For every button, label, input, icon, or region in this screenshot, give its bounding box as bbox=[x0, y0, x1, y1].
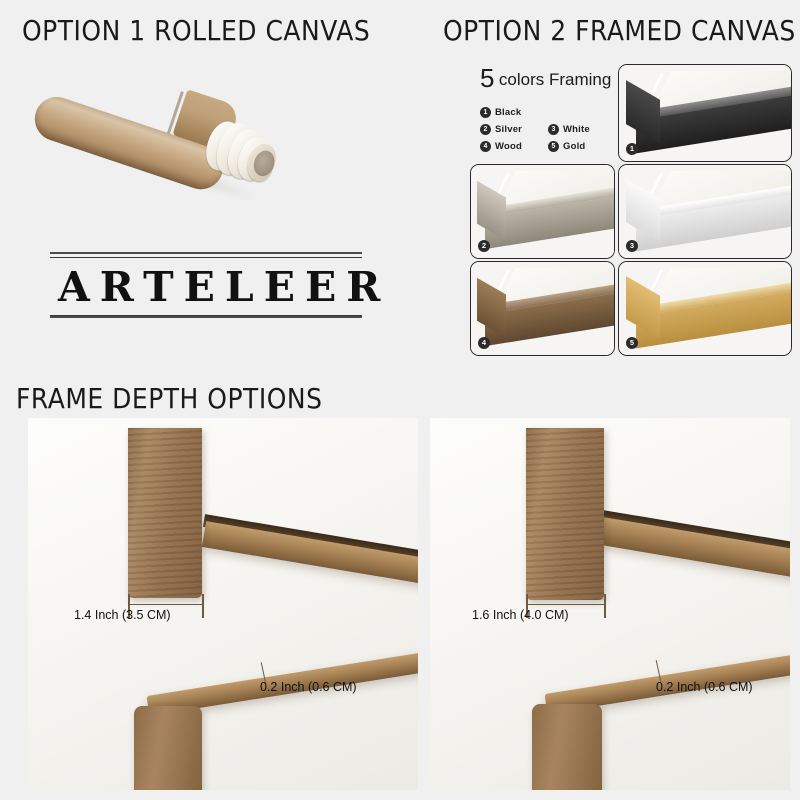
frame-panel-white[interactable]: 3 bbox=[618, 164, 792, 259]
photo-background bbox=[430, 418, 790, 790]
frame-corner-silver-illustration bbox=[471, 165, 614, 258]
frame-panel-badge: 3 bbox=[626, 240, 638, 252]
legend-row: 1 Black bbox=[480, 107, 610, 118]
thickness-label-right: 0.2 Inch (0.6 CM) bbox=[656, 680, 753, 694]
frame-corner-black-illustration bbox=[619, 65, 791, 161]
frame-panel-badge: 2 bbox=[478, 240, 490, 252]
frame-stile-lower bbox=[134, 706, 202, 790]
brand-logo: ARTELEER bbox=[50, 252, 362, 318]
brand-name: ARTELEER bbox=[50, 267, 362, 308]
photo-background bbox=[28, 418, 418, 790]
infographic-canvas: OPTION 1 ROLLED CANVAS ARTELEER OPTION 2… bbox=[0, 0, 800, 800]
framing-colors-legend: 5 colors Framing 1 Black 2 Silver 3 Whit… bbox=[480, 63, 610, 158]
frame-stile-upper bbox=[128, 428, 202, 598]
rolled-canvas-tube-image bbox=[30, 66, 300, 196]
legend-item-white: 3 White bbox=[548, 124, 602, 135]
frame-stile-upper bbox=[526, 428, 604, 600]
frame-panel-silver[interactable]: 2 bbox=[470, 164, 615, 259]
legend-row: 4 Wood 5 Gold bbox=[480, 141, 610, 152]
thickness-label-left: 0.2 Inch (0.6 CM) bbox=[260, 680, 357, 694]
frame-panel-black[interactable]: 1 bbox=[618, 64, 792, 162]
option1-title: OPTION 1 ROLLED CANVAS bbox=[22, 14, 370, 46]
legend-item-label: Silver bbox=[495, 124, 522, 135]
legend-row: 2 Silver 3 White bbox=[480, 124, 610, 135]
legend-item-label: Gold bbox=[563, 141, 585, 152]
frame-panel-badge: 1 bbox=[626, 143, 638, 155]
frame-corner-white-illustration bbox=[619, 165, 791, 258]
legend-bullet-icon: 3 bbox=[548, 124, 559, 135]
legend-item-silver: 2 Silver bbox=[480, 124, 534, 135]
logo-rule-top bbox=[50, 252, 362, 254]
legend-bullet-icon: 5 bbox=[548, 141, 559, 152]
frame-corner-wood-illustration bbox=[471, 262, 614, 355]
legend-item-label: Black bbox=[495, 107, 521, 118]
legend-rows: 1 Black 2 Silver 3 White 4 Wood bbox=[480, 107, 610, 152]
frame-depth-photo-left: 1.4 Inch (3.5 CM) 0.2 Inch (0.6 CM) bbox=[28, 418, 418, 790]
legend-item-label: White bbox=[563, 124, 590, 135]
frame-panel-badge: 5 bbox=[626, 337, 638, 349]
frame-panel-badge: 4 bbox=[478, 337, 490, 349]
logo-rule-top-thin bbox=[50, 257, 362, 258]
frame-stile-lower bbox=[532, 704, 602, 790]
frame-panel-gold[interactable]: 5 bbox=[618, 261, 792, 356]
frame-corner-gold-illustration bbox=[619, 262, 791, 355]
dimension-line bbox=[128, 604, 204, 605]
legend-item-gold: 5 Gold bbox=[548, 141, 602, 152]
frame-panel-wood[interactable]: 4 bbox=[470, 261, 615, 356]
frame-depth-title: FRAME DEPTH OPTIONS bbox=[16, 382, 322, 414]
legend-item-label: Wood bbox=[495, 141, 522, 152]
legend-caption: colors Framing bbox=[499, 70, 611, 89]
legend-count: 5 bbox=[480, 63, 494, 93]
legend-bullet-icon: 1 bbox=[480, 107, 491, 118]
dimension-tick bbox=[202, 594, 204, 618]
legend-item-wood: 4 Wood bbox=[480, 141, 534, 152]
legend-item-black: 1 Black bbox=[480, 107, 534, 118]
frame-depth-photo-right: 1.6 Inch (4.0 CM) 0.2 Inch (0.6 CM) bbox=[430, 418, 790, 790]
dimension-line bbox=[526, 604, 606, 605]
option2-title: OPTION 2 FRAMED CANVAS bbox=[443, 14, 796, 46]
depth-label-left: 1.4 Inch (3.5 CM) bbox=[74, 608, 171, 622]
legend-title: 5 colors Framing bbox=[480, 63, 610, 94]
legend-bullet-icon: 2 bbox=[480, 124, 491, 135]
legend-bullet-icon: 4 bbox=[480, 141, 491, 152]
dimension-tick bbox=[604, 594, 606, 618]
depth-label-right: 1.6 Inch (4.0 CM) bbox=[472, 608, 569, 622]
logo-rule-bottom bbox=[50, 316, 362, 318]
